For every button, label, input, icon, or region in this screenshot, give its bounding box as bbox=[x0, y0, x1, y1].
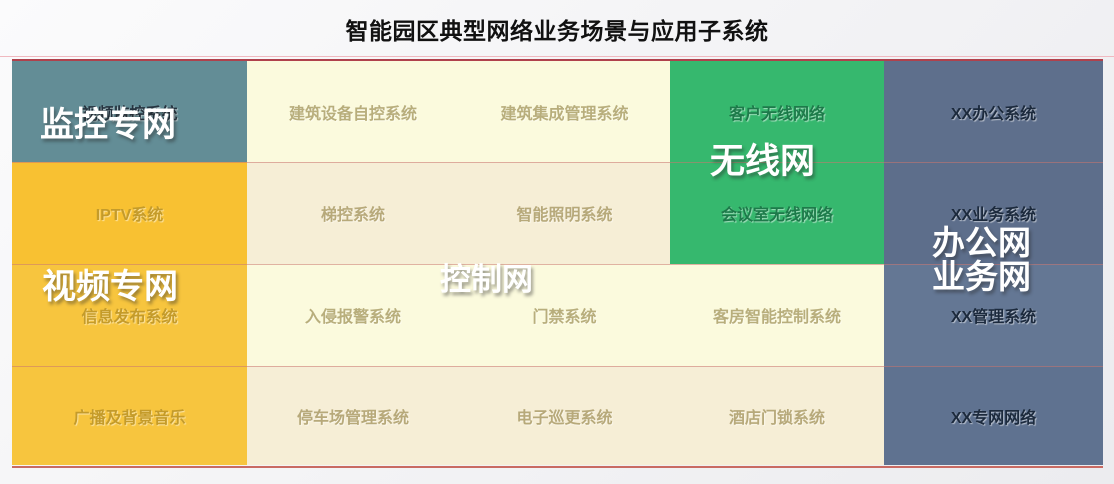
cell-label: 信息发布系统 bbox=[81, 303, 177, 327]
column-integrated-management: 建筑集成管理系统 智能照明系统 门禁系统 电子巡更系统 bbox=[459, 59, 670, 467]
cell-guestroom-smart-control[interactable]: 客房智能控制系统 bbox=[670, 264, 884, 366]
column-building-control: 建筑设备自控系统 梯控系统 入侵报警系统 停车场管理系统 bbox=[247, 59, 459, 467]
cell-label: IPTV系统 bbox=[96, 201, 164, 225]
cell-label: 建筑集成管理系统 bbox=[500, 100, 628, 124]
cell-building-integration-management[interactable]: 建筑集成管理系统 bbox=[459, 61, 670, 162]
grid-bottom-border bbox=[12, 466, 1103, 468]
cell-guest-wireless-network[interactable]: 客户无线网络 bbox=[670, 61, 884, 162]
cell-elevator-control[interactable]: 梯控系统 bbox=[247, 162, 459, 264]
cell-label: 门禁系统 bbox=[532, 303, 596, 327]
matrix-grid: 视频监控系统 IPTV系统 信息发布系统 广播及背景音乐 建筑设备自控系统 梯控… bbox=[12, 59, 1103, 467]
title-divider bbox=[0, 56, 1114, 57]
cell-xx-private-network[interactable]: XX专网网络 bbox=[884, 366, 1103, 465]
cell-label: 广播及背景音乐 bbox=[73, 404, 185, 428]
cell-broadcast-background-music[interactable]: 广播及背景音乐 bbox=[12, 366, 247, 465]
cell-hotel-door-lock[interactable]: 酒店门锁系统 bbox=[670, 366, 884, 465]
cell-label: 视频监控系统 bbox=[81, 100, 177, 124]
cell-label: 入侵报警系统 bbox=[305, 303, 401, 327]
cell-information-publishing[interactable]: 信息发布系统 bbox=[12, 264, 247, 366]
cell-iptv[interactable]: IPTV系统 bbox=[12, 162, 247, 264]
cell-video-surveillance[interactable]: 视频监控系统 bbox=[12, 61, 247, 162]
slide-canvas: 智能园区典型网络业务场景与应用子系统 视频监控系统 IPTV系统 信息发布系统 … bbox=[0, 0, 1114, 484]
cell-label: XX业务系统 bbox=[951, 201, 1036, 225]
slide-title-bar: 智能园区典型网络业务场景与应用子系统 bbox=[0, 0, 1114, 57]
cell-xx-management-system[interactable]: XX管理系统 bbox=[884, 264, 1103, 366]
row-separator-2 bbox=[12, 264, 1103, 265]
cell-label: 会议室无线网络 bbox=[721, 201, 833, 225]
column-monitor-video: 视频监控系统 IPTV系统 信息发布系统 广播及背景音乐 bbox=[12, 59, 247, 467]
cell-intrusion-alarm[interactable]: 入侵报警系统 bbox=[247, 264, 459, 366]
cell-electronic-patrol[interactable]: 电子巡更系统 bbox=[459, 366, 670, 465]
column-office-business: XX办公系统 XX业务系统 XX管理系统 XX专网网络 bbox=[884, 59, 1103, 467]
cell-access-control[interactable]: 门禁系统 bbox=[459, 264, 670, 366]
row-separator-3 bbox=[12, 366, 1103, 367]
cell-parking-management[interactable]: 停车场管理系统 bbox=[247, 366, 459, 465]
cell-label: 智能照明系统 bbox=[516, 201, 612, 225]
cell-label: 客房智能控制系统 bbox=[713, 303, 841, 327]
cell-xx-business-system[interactable]: XX业务系统 bbox=[884, 162, 1103, 264]
cell-label: XX办公系统 bbox=[951, 100, 1036, 124]
cell-smart-lighting[interactable]: 智能照明系统 bbox=[459, 162, 670, 264]
cell-label: 电子巡更系统 bbox=[516, 404, 612, 428]
cell-meeting-room-wireless-network[interactable]: 会议室无线网络 bbox=[670, 162, 884, 264]
cell-label: XX专网网络 bbox=[951, 404, 1036, 428]
page-title: 智能园区典型网络业务场景与应用子系统 bbox=[346, 12, 769, 46]
row-separator-1 bbox=[12, 162, 1103, 163]
grid-top-border bbox=[12, 59, 1103, 61]
cell-label: 建筑设备自控系统 bbox=[289, 100, 417, 124]
cell-label: XX管理系统 bbox=[951, 303, 1036, 327]
cell-building-equipment-automation[interactable]: 建筑设备自控系统 bbox=[247, 61, 459, 162]
cell-xx-office-system[interactable]: XX办公系统 bbox=[884, 61, 1103, 162]
cell-label: 酒店门锁系统 bbox=[729, 404, 825, 428]
cell-label: 停车场管理系统 bbox=[297, 404, 409, 428]
column-wireless-guestroom: 客户无线网络 会议室无线网络 客房智能控制系统 酒店门锁系统 bbox=[670, 59, 884, 467]
cell-label: 客户无线网络 bbox=[729, 100, 825, 124]
cell-label: 梯控系统 bbox=[321, 201, 385, 225]
